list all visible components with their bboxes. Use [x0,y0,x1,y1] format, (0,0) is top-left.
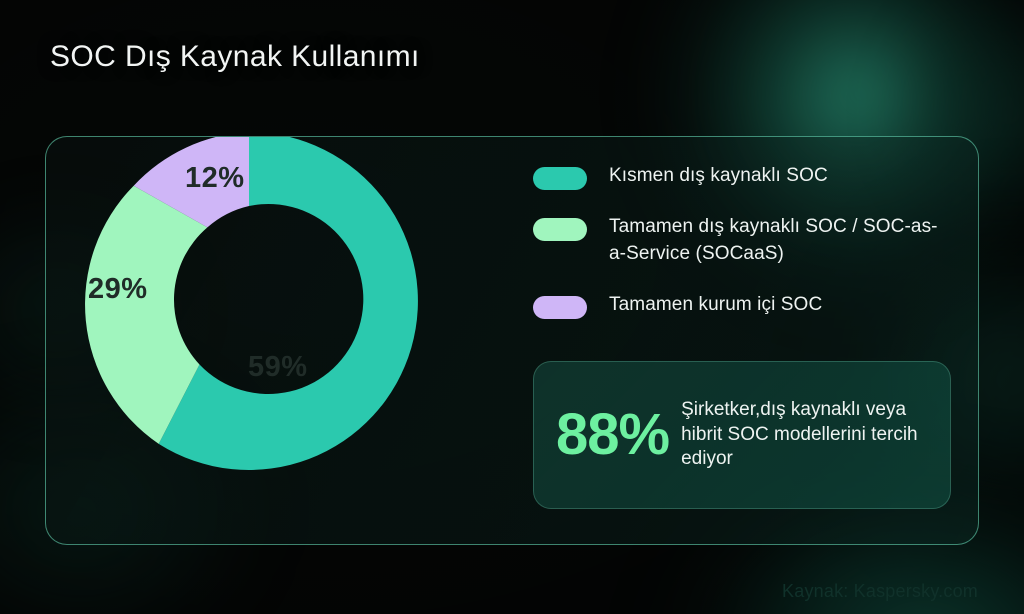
legend-item-tamamen-kurum-ici[interactable]: Tamamen kurum içi SOC [533,292,953,319]
callout-figure: 88% [556,406,669,464]
donut-chart: 59% 29% 12% [80,136,418,470]
source-note: Kaynak: Kaspersky.com [782,581,978,602]
legend: Kısmen dış kaynaklı SOC Tamamen dış kayn… [533,163,953,343]
legend-swatch-icon-mint [533,218,587,241]
legend-item-kismen-dis-kaynakli[interactable]: Kısmen dış kaynaklı SOC [533,163,953,190]
legend-item-label: Tamamen kurum içi SOC [609,292,822,319]
highlight-callout: 88% Şirketker,dış kaynaklı veya hibrit S… [533,361,951,509]
legend-swatch-icon-lavender [533,296,587,319]
page-title: SOC Dış Kaynak Kullanımı [50,40,420,74]
callout-text: Şirketker,dış kaynaklı veya hibrit SOC m… [681,398,932,472]
legend-swatch-icon-teal [533,167,587,190]
legend-item-label: Tamamen dış kaynaklı SOC / SOC-as-a-Serv… [609,214,953,268]
legend-item-label: Kısmen dış kaynaklı SOC [609,163,828,190]
legend-item-tamamen-dis-kaynakli[interactable]: Tamamen dış kaynaklı SOC / SOC-as-a-Serv… [533,214,953,268]
donut-value-label-29: 29% [88,273,148,306]
infographic-canvas: SOC Dış Kaynak Kullanımı 59% 29% 12% Kıs… [0,0,1024,614]
donut-value-label-12: 12% [185,162,245,195]
donut-value-label-59: 59% [248,351,308,384]
chart-card: 59% 29% 12% Kısmen dış kaynaklı SOC Tama… [45,136,979,545]
